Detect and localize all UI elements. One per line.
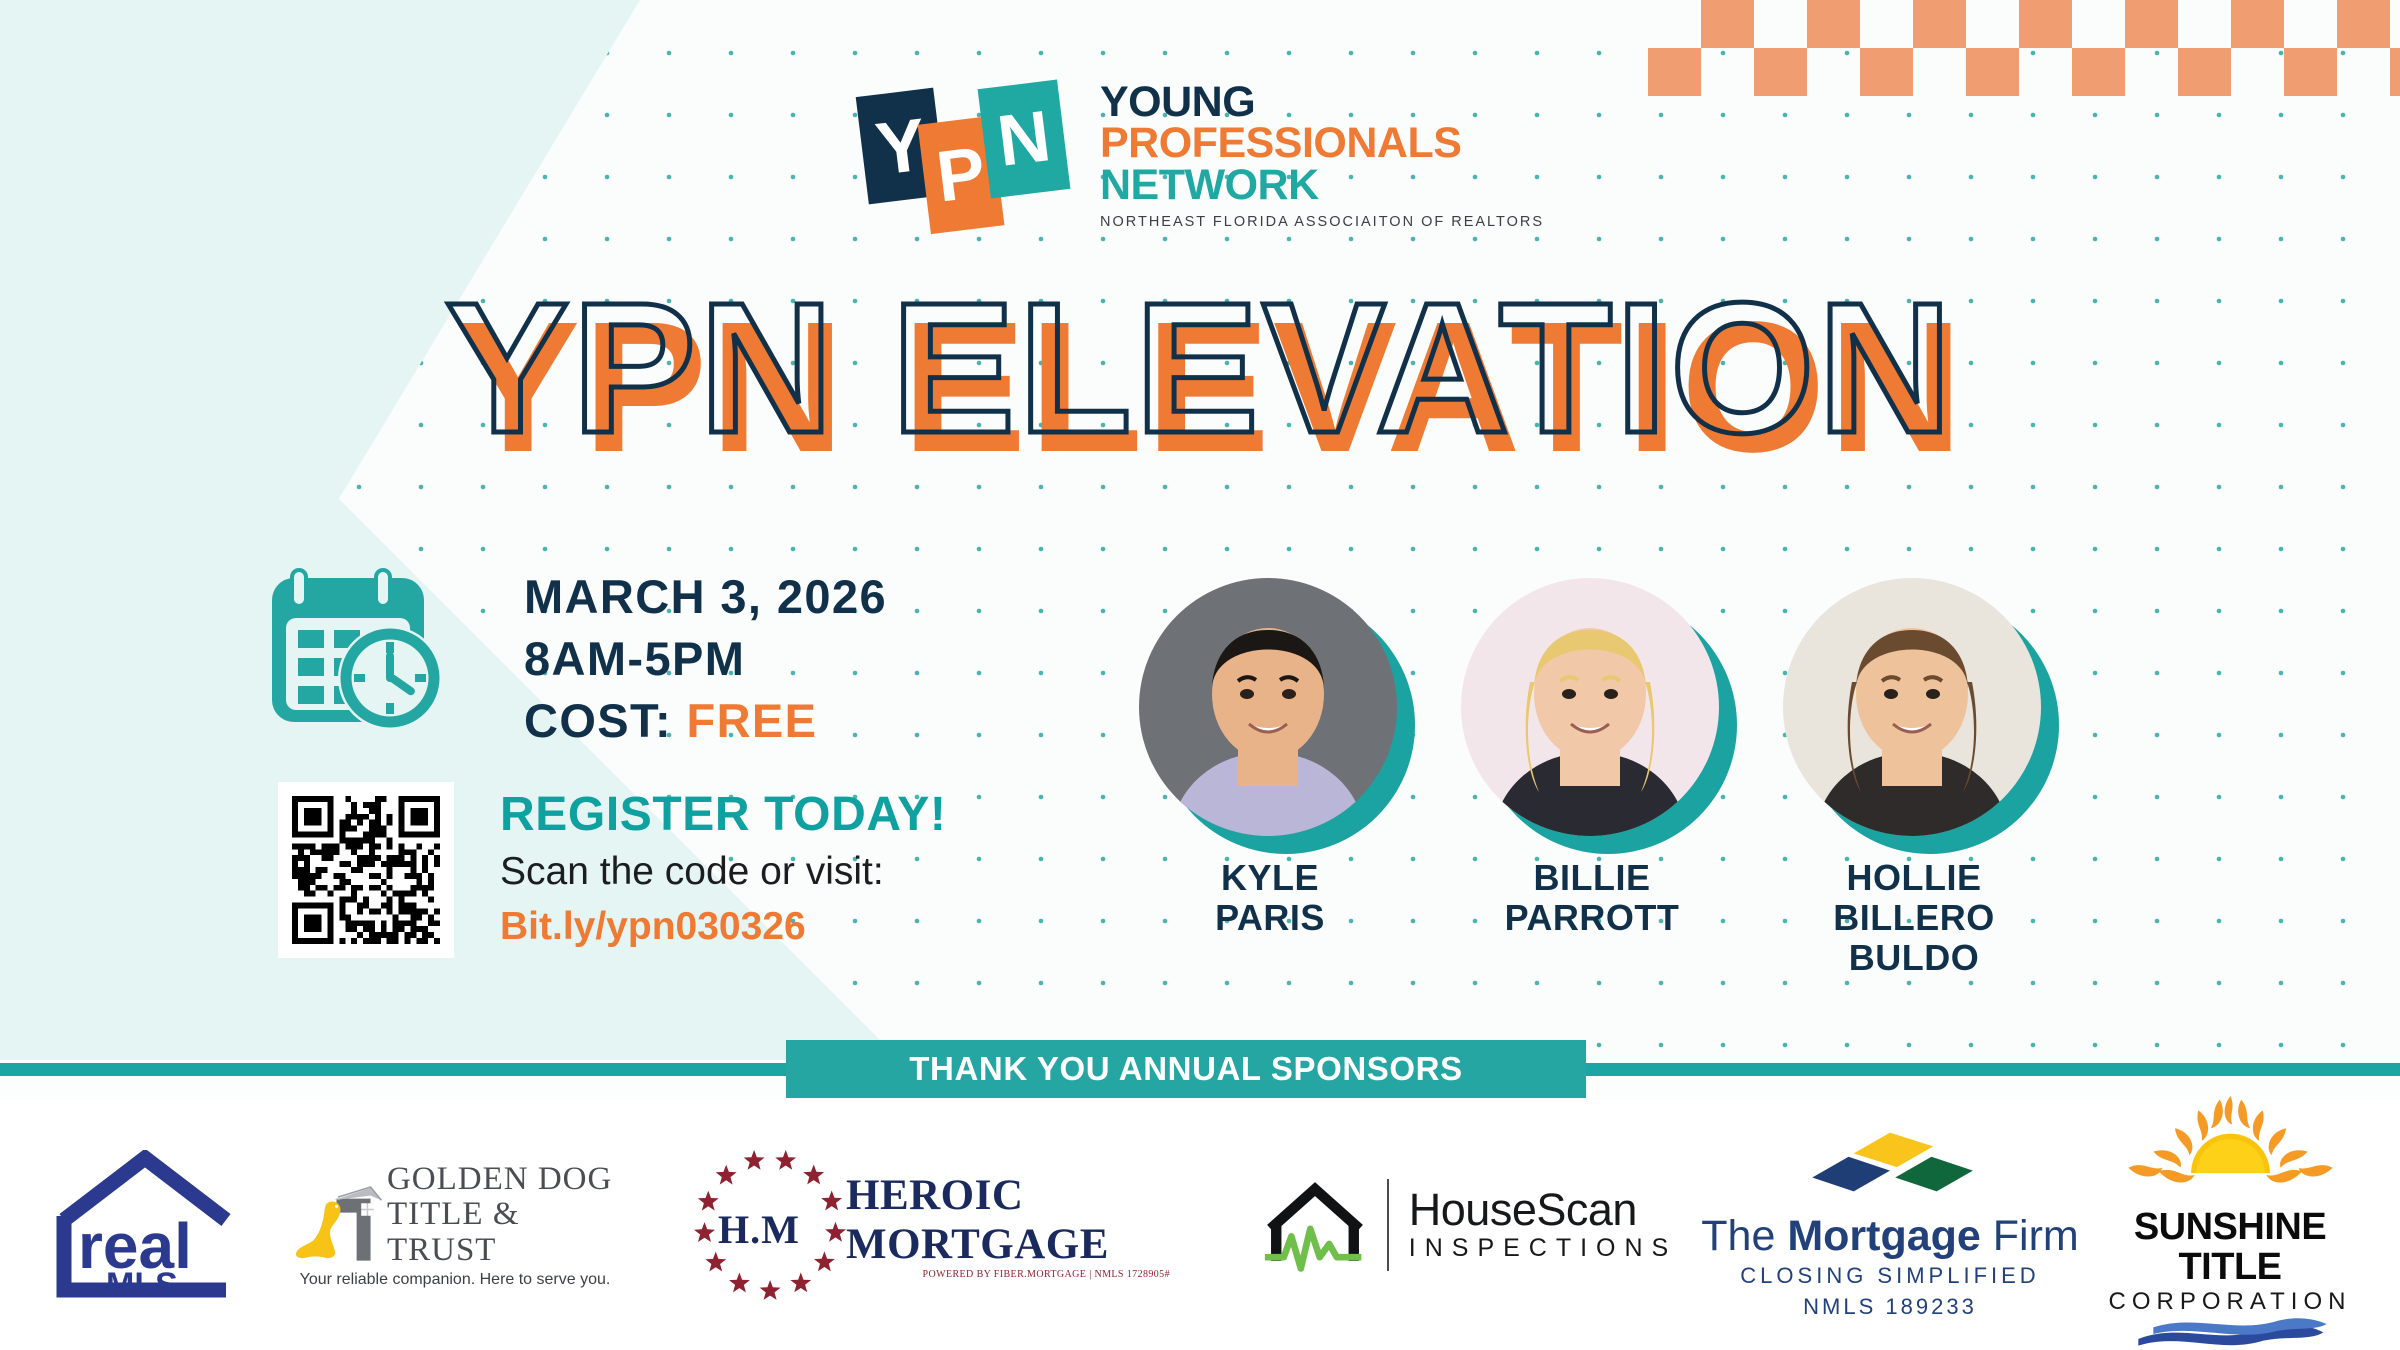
mortgage-firm-the: The (1701, 1212, 1787, 1260)
checker-square (2178, 48, 2231, 96)
logo-tagline: NORTHEAST FLORIDA ASSOCIAITON OF REALTOR… (1100, 214, 1544, 230)
checker-square (2231, 0, 2284, 48)
sponsor-logo-row: real MLS (0, 1100, 2400, 1350)
mortgage-firm-name: The Mortgage Firm (1701, 1212, 2078, 1260)
speaker-name: KYLEPARIS (1120, 858, 1420, 938)
checker-square (2019, 0, 2072, 48)
ypn-logo-wordmark: YOUNG PROFESSIONALS NETWORK NORTHEAST FL… (1100, 82, 1544, 230)
speaker-first-name: HOLLIE BILLERO (1833, 857, 1995, 938)
speaker-card: BILLIEPARROTT (1442, 578, 1742, 938)
golden-dog-line2: TITLE & TRUST (387, 1196, 620, 1268)
sponsor-logo-golden-dog[interactable]: GOLDEN DOG TITLE & TRUST Your reliable c… (290, 1100, 620, 1350)
sunshine-line1: SUNSHINE TITLE (2080, 1207, 2380, 1287)
sponsor-logo-sunshine-title[interactable]: SUNSHINE TITLE CORPORATION (2080, 1100, 2380, 1350)
checker-square (1807, 0, 1860, 48)
svg-text:MLS: MLS (106, 1266, 178, 1300)
mortgage-firm-tagline: CLOSING SIMPLIFIED (1701, 1260, 2078, 1292)
mortgage-firm-firm: Firm (1981, 1212, 2079, 1260)
mortgage-firm-diamonds-icon (1795, 1129, 1985, 1207)
logo-line-young: YOUNG (1100, 82, 1544, 123)
checker-square (2284, 48, 2337, 96)
avatar (1783, 578, 2041, 836)
logo-line-professionals: PROFESSIONALS (1100, 123, 1544, 164)
speaker-photo (1783, 578, 2045, 840)
checker-square (2072, 48, 2125, 96)
avatar (1461, 578, 1719, 836)
speaker-name: BILLIEPARROTT (1442, 858, 1742, 938)
register-headline: REGISTER TODAY! (500, 786, 946, 844)
register-instruction: Scan the code or visit: (500, 844, 946, 900)
sponsors-banner: THANK YOU ANNUAL SPONSORS (786, 1040, 1586, 1098)
checkerboard-decoration (1648, 0, 2400, 96)
ypn-mark-n: N (978, 80, 1071, 199)
event-cost-value: FREE (686, 694, 817, 747)
speaker-last-name: PARIS (1215, 897, 1325, 938)
page-title: YPN ELEVATION (0, 276, 2400, 462)
calendar-clock-icon (262, 556, 452, 736)
speaker-first-name: KYLE (1221, 857, 1319, 898)
event-details: MARCH 3, 2026 8AM-5PM COST: FREE (524, 566, 887, 752)
speaker-photo (1139, 578, 1401, 840)
mortgage-firm-mortgage: Mortgage (1787, 1212, 1981, 1260)
avatar (1139, 578, 1397, 836)
housescan-line2: INSPECTIONS (1409, 1233, 1677, 1263)
heroic-name: HEROIC MORTGAGE (846, 1171, 1170, 1269)
speaker-last-name: PARROTT (1505, 897, 1680, 938)
housescan-house-ekg-icon (1263, 1177, 1367, 1273)
checker-square (1648, 48, 1701, 96)
heroic-abbrev: H.M (718, 1206, 800, 1253)
event-cost: COST: FREE (524, 690, 887, 752)
ypn-logo: Y P N YOUNG PROFESSIONALS NETWORK NORTHE… (848, 82, 1548, 242)
event-date: MARCH 3, 2026 (524, 566, 887, 628)
heroic-star-circle: H.M (680, 1140, 860, 1310)
register-block: REGISTER TODAY! Scan the code or visit: … (500, 786, 946, 954)
event-cost-label: COST: (524, 694, 672, 747)
golden-dog-icon (290, 1182, 383, 1268)
heroic-fine-print: POWERED BY FIBER.MORTGAGE | NMLS 1728905… (846, 1269, 1170, 1280)
speakers-list: KYLEPARISBILLIEPARROTTHOLLIE BILLEROBULD… (1120, 578, 2390, 968)
checker-square (1754, 48, 1807, 96)
sunshine-sun-icon (2123, 1094, 2338, 1202)
event-title-block: YPN ELEVATION YPN ELEVATION (0, 276, 2400, 466)
event-time: 8AM-5PM (524, 628, 887, 690)
mortgage-firm-nmls: NMLS 189233 (1701, 1292, 2078, 1322)
checker-square (1966, 48, 2019, 96)
checker-square (2337, 0, 2390, 48)
checker-square (2390, 48, 2400, 96)
speaker-photo (1461, 578, 1723, 840)
checker-square (1860, 48, 1913, 96)
checker-square (1913, 0, 1966, 48)
flyer-canvas: Y P N YOUNG PROFESSIONALS NETWORK NORTHE… (0, 0, 2400, 1350)
checker-square (1701, 0, 1754, 48)
sponsors-banner-label: THANK YOU ANNUAL SPONSORS (909, 1050, 1462, 1088)
register-url[interactable]: Bit.ly/ypn030326 (500, 900, 946, 954)
speaker-card: KYLEPARIS (1120, 578, 1420, 938)
ypn-logo-marks: Y P N (848, 82, 1088, 232)
qr-code[interactable] (278, 782, 454, 958)
housescan-divider (1387, 1179, 1389, 1271)
golden-dog-line1: GOLDEN DOG (387, 1162, 620, 1196)
sponsor-logo-housescan[interactable]: HouseScan INSPECTIONS (1270, 1100, 1670, 1350)
speaker-name: HOLLIE BILLEROBULDO (1764, 858, 2064, 978)
sponsor-logo-mortgage-firm[interactable]: The Mortgage Firm CLOSING SIMPLIFIED NML… (1700, 1100, 2080, 1350)
qr-code-graphic (292, 796, 440, 944)
housescan-line1: HouseScan (1409, 1187, 1677, 1233)
sunshine-waves-icon (2130, 1317, 2330, 1350)
golden-dog-tagline: Your reliable companion. Here to serve y… (290, 1271, 620, 1289)
sponsor-logo-heroic-mortgage[interactable]: H.M HEROIC MORTGAGE POWERED BY FIBER.MOR… (680, 1100, 1170, 1350)
speaker-last-name: BULDO (1849, 937, 1980, 978)
speaker-card: HOLLIE BILLEROBULDO (1764, 578, 2064, 978)
checker-square (2125, 0, 2178, 48)
sunshine-line2: CORPORATION (2080, 1287, 2380, 1317)
logo-line-network: NETWORK (1100, 165, 1544, 206)
speaker-first-name: BILLIE (1534, 857, 1651, 898)
sponsor-logo-realmls[interactable]: real MLS (30, 1100, 260, 1350)
